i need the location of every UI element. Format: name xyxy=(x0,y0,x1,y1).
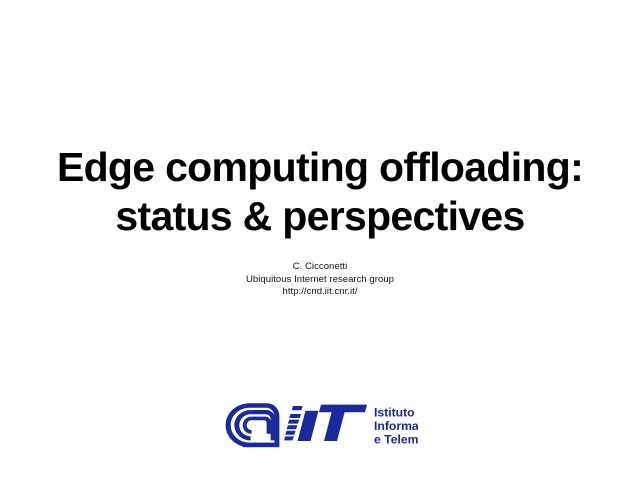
cnr-monogram-icon xyxy=(226,403,280,447)
subtitle-block: C. Cicconetti Ubiquitous Internet resear… xyxy=(0,261,640,299)
title-line-2: status & perspectives xyxy=(0,192,640,241)
logo-institute-line-3: e Telematica xyxy=(374,433,418,447)
iit-cnr-logo: Istituto di Informatica e Telematica xyxy=(222,400,418,450)
affiliation: Ubiquitous Internet research group xyxy=(0,274,640,287)
iit-cnr-logo-icon: Istituto di Informatica e Telematica xyxy=(222,400,418,450)
author-name: C. Cicconetti xyxy=(0,261,640,274)
logo-institute-line-1: Istituto di xyxy=(374,406,418,420)
website-url: http://cnd.iit.cnr.it/ xyxy=(0,286,640,299)
title-line-1: Edge computing offloading: xyxy=(0,143,640,192)
iit-letter-i xyxy=(298,411,319,441)
iit-letter-t-bar xyxy=(319,405,367,413)
title-slide: Edge computing offloading: status & pers… xyxy=(0,0,640,480)
logo-institute-line-2: Informatica xyxy=(374,419,418,433)
page-title: Edge computing offloading: status & pers… xyxy=(0,143,640,241)
iit-letter-t-stem xyxy=(324,411,345,441)
